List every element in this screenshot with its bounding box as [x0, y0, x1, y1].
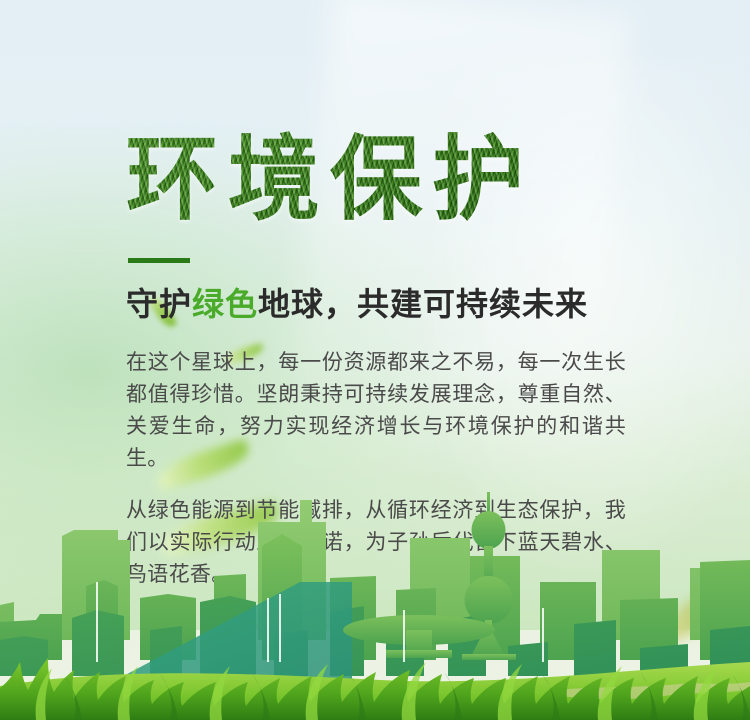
- body-paragraph-1: 在这个星球上，每一份资源都来之不易，每一次生长都值得珍惜。坚朗秉持可持续发展理念…: [126, 347, 626, 475]
- page-title: 环境保护: [126, 130, 646, 230]
- subtitle-highlight: 绿色: [192, 286, 258, 322]
- subtitle-tail: 地球，共建可持续未来: [258, 286, 588, 322]
- title-divider: [128, 258, 190, 263]
- subtitle-lead: 守护: [126, 286, 192, 322]
- environmental-protection-poster: 环境保护 守护绿色地球，共建可持续未来 在这个星球上，每一份资源都来之不易，每一…: [0, 0, 750, 720]
- subtitle: 守护绿色地球，共建可持续未来: [126, 283, 646, 325]
- city-skyline-scene: [0, 490, 750, 720]
